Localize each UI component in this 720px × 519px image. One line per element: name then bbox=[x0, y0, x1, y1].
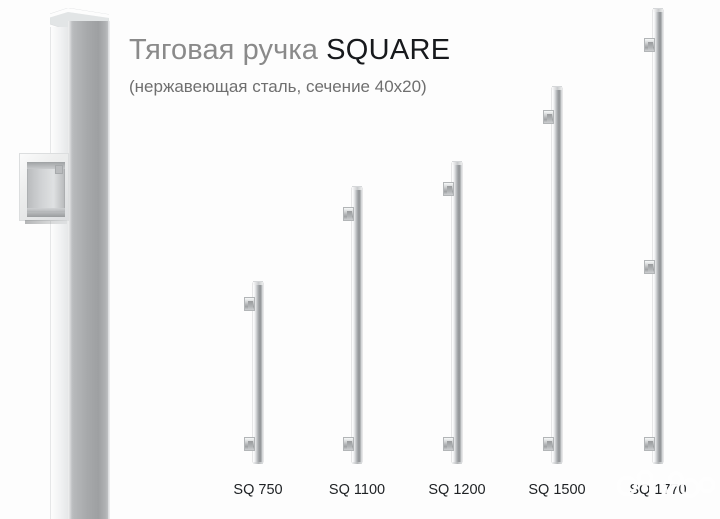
handle-bar bbox=[452, 163, 462, 462]
handle-mount-bracket bbox=[343, 207, 354, 221]
handle-caption: SQ 1100 bbox=[329, 481, 385, 499]
hero-handle-highlight bbox=[68, 21, 72, 519]
page-subtitle: (нержавеющая сталь, сечение 40x20) bbox=[129, 76, 549, 98]
handle-bottom-cap bbox=[452, 462, 462, 465]
handle-mount-bracket bbox=[443, 437, 454, 451]
hero-handle-left-face bbox=[50, 27, 70, 519]
handle-bar bbox=[653, 10, 663, 462]
handle-caption: SQ 750 bbox=[233, 481, 282, 499]
handle-bottom-cap bbox=[653, 462, 663, 465]
bracket-bottom-shadow bbox=[27, 208, 65, 217]
page-title: Тяговая ручка SQUARE bbox=[129, 33, 549, 67]
hero-handle-illustration bbox=[47, 8, 111, 519]
product-image-canvas: Тяговая ручка SQUARE (нержавеющая сталь,… bbox=[0, 0, 720, 519]
page-title-dark-part: SQUARE bbox=[326, 34, 450, 66]
handle-sq-1770 bbox=[653, 10, 663, 462]
handle-sq-1100 bbox=[352, 188, 362, 462]
handle-top-cap bbox=[552, 86, 562, 90]
hero-handle-right-edge bbox=[108, 21, 110, 519]
handle-mount-bracket bbox=[244, 297, 255, 311]
hero-wall-mount-bracket bbox=[19, 153, 69, 221]
handle-caption: SQ 1500 bbox=[528, 481, 585, 499]
handle-bar bbox=[552, 88, 562, 462]
handle-top-cap bbox=[653, 8, 663, 12]
handle-mount-bracket bbox=[343, 437, 354, 451]
handle-mount-bracket bbox=[543, 437, 554, 451]
handle-sq-1500 bbox=[552, 88, 562, 462]
handle-top-cap bbox=[253, 281, 263, 285]
page-title-gray-part: Тяговая ручка bbox=[129, 34, 326, 66]
handle-top-cap bbox=[452, 161, 462, 165]
handle-mount-bracket bbox=[443, 182, 454, 196]
handle-caption: SQ 1200 bbox=[428, 481, 485, 499]
handle-bar bbox=[352, 188, 362, 462]
handle-bottom-cap bbox=[253, 462, 263, 465]
handle-mount-bracket bbox=[644, 437, 655, 451]
handle-sq-750 bbox=[253, 283, 263, 462]
handle-top-cap bbox=[352, 186, 362, 190]
handle-mount-bracket bbox=[543, 110, 554, 124]
handle-sq-1200 bbox=[452, 163, 462, 462]
handle-bottom-cap bbox=[352, 462, 362, 465]
handle-bottom-cap bbox=[552, 462, 562, 465]
hero-handle-front-face bbox=[68, 21, 109, 519]
title-block: Тяговая ручка SQUARE (нержавеющая сталь,… bbox=[129, 33, 549, 98]
bracket-underside bbox=[25, 220, 67, 224]
handle-caption: SQ 1770 bbox=[629, 481, 686, 499]
handle-mount-bracket bbox=[244, 437, 255, 451]
handle-mount-bracket bbox=[644, 38, 655, 52]
bracket-screw bbox=[55, 165, 63, 174]
handle-mount-bracket bbox=[644, 260, 655, 274]
